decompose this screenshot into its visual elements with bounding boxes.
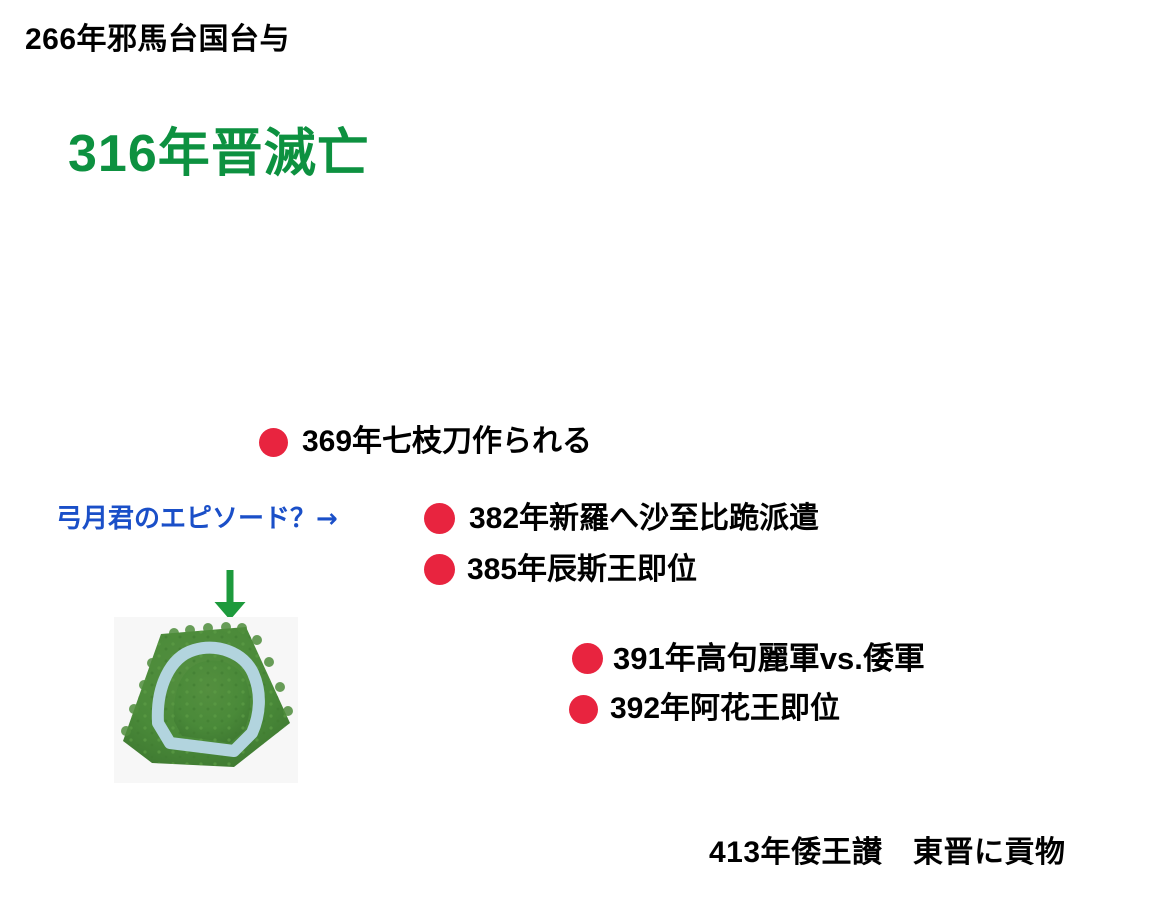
down-arrow-icon <box>207 570 253 622</box>
timeline-event-392: 392年阿花王即位 <box>569 694 840 724</box>
heading-316-jin-fall: 316年晋滅亡 <box>68 128 370 180</box>
footer-413-wa-king-san: 413年倭王讃 東晋に貢物 <box>709 838 1066 868</box>
timeline-event-391: 391年高句麗軍vs.倭軍 <box>572 643 925 674</box>
red-bullet-icon <box>424 554 455 585</box>
annotation-label: 弓月君のエピソード？ <box>56 503 316 533</box>
timeline-event-385: 385年辰斯王即位 <box>424 554 697 585</box>
timeline-event-label: 382年新羅へ沙至比跪派遣 <box>469 504 819 534</box>
timeline-event-label: 385年辰斯王即位 <box>467 555 697 585</box>
timeline-event-382: 382年新羅へ沙至比跪派遣 <box>424 503 819 534</box>
timeline-event-label: 392年阿花王即位 <box>610 694 840 724</box>
right-arrow-icon: → <box>316 504 338 534</box>
red-bullet-icon <box>572 643 603 674</box>
timeline-event-369: 369年七枝刀作られる <box>259 427 592 457</box>
slide-canvas: 266年邪馬台国台与 316年晋滅亡 弓月君のエピソード？→ <box>0 0 1170 912</box>
red-bullet-icon <box>569 695 598 724</box>
timeline-event-label: 391年高句麗軍vs.倭軍 <box>613 643 925 674</box>
annotation-yuzuki-no-kimi: 弓月君のエピソード？→ <box>56 505 338 532</box>
heading-266-yamatai: 266年邪馬台国台与 <box>25 25 290 55</box>
red-bullet-icon <box>259 428 288 457</box>
red-bullet-icon <box>424 503 455 534</box>
timeline-event-label: 369年七枝刀作られる <box>302 427 592 457</box>
keyhole-kofun-illustration <box>114 617 298 783</box>
